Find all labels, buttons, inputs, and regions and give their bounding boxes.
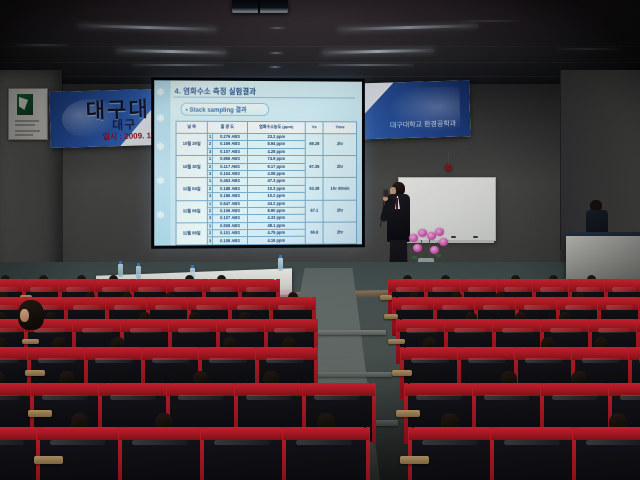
water-bottle [118,264,123,277]
seat-highlight [42,395,88,400]
table-row: 10월 30일10.956 ABS74.9 ppm67.352hr [176,156,357,163]
cell-absorbance: 0.104 ABS [213,170,248,177]
seat-highlight [550,328,582,333]
seat-armrest[interactable] [400,456,429,464]
slide-snowflake-border: ❄ ❄ ❄ ❄ ❄ [154,80,170,245]
cell-date: 10월 30일 [176,156,207,178]
poster-text-line [15,134,33,136]
seat-highlight [416,395,462,400]
seat-highlight [0,440,24,445]
cell-ppm: 8.94 ppm [247,141,305,148]
flower-leaf [435,254,442,257]
seat-highlight [214,440,270,445]
seat-highlight [155,305,182,310]
podium [566,236,640,284]
auditorium-seat[interactable] [122,430,202,480]
table-header-row: 날 짜 흡 광 도 염화수소농도 (ppm) Vs Time [176,121,357,134]
seat-highlight [266,358,305,363]
ceiling-lamp [268,52,284,54]
seat-highlight [132,440,188,445]
snowflake-icon: ❄ [156,177,165,187]
slide-data-table: 날 짜 흡 광 도 염화수소농도 (ppm) Vs Time 10월 29일10… [176,121,358,246]
whiteboard-marker-icon [473,236,478,238]
snowflake-icon: ❄ [156,143,165,153]
seat-highlight [274,328,306,333]
ceiling-lamp [318,64,414,66]
seat-armrest[interactable] [28,410,52,417]
cell-ppm: 47.3 ppm [247,178,305,185]
ceiling-lamp [14,44,70,46]
seat-headrest [201,427,287,440]
seat-highlight [296,440,352,445]
cell-vs: 66.6 [305,222,323,244]
cell-ppm: 4.08 ppm [247,170,305,177]
seat-highlight [178,328,210,333]
seat-highlight [73,305,100,310]
seat-highlight [612,287,636,292]
cell-ppm: 74.9 ppm [247,156,305,163]
seat-armrest[interactable] [392,370,412,376]
seat-armrest[interactable] [25,370,45,376]
ceiling-lamp [268,27,286,29]
flower-bloom [435,228,444,236]
flower-bloom [418,229,427,237]
auditorium-seat[interactable] [494,430,574,480]
flower-bloom [409,234,418,242]
flower-bloom [439,238,448,246]
cell-absorbance: 0.106 ABS [213,207,248,215]
wall-poster [8,88,48,140]
seat-highlight [620,395,640,400]
cell-time: 2hr [324,156,357,178]
slide-title: 4. 염화수소 측정 실험결과 [175,86,257,97]
poster-text-line [15,124,35,126]
cell-absorbance: 0.169 ABS [213,141,248,148]
cell-absorbance: 0.276 ABS [213,133,248,140]
cell-ppm: 4.28 ppm [247,148,305,155]
cell-absorbance: 0.956 ABS [213,156,248,163]
presenter-tie [396,198,398,210]
slide-bullet-pill: • Stack sampling 결과 [181,103,269,116]
seat-headrest [573,427,640,440]
seat-highlight [82,328,114,333]
seat-highlight [196,305,223,310]
cell-time: 2hr [324,200,357,222]
ceiling-lamp [268,66,282,68]
seat-highlight [540,287,564,292]
seat-highlight [422,440,478,445]
auditorium-seat[interactable] [204,430,284,480]
cell-ppm: 23.2 ppm [247,133,305,141]
seat-headrest [0,427,41,440]
cell-time: 1hr 40min [324,178,357,200]
water-bottle [278,258,283,271]
seat-headrest [119,427,205,440]
poster-text-line [15,120,39,122]
seat-highlight [95,358,134,363]
cell-absorbance: 0.547 ABS [213,200,248,208]
cell-ppm: 9.17 ppm [247,163,305,170]
table-row: 10월 29일10.276 ABS23.2 ppm69.282hr [176,133,357,141]
cell-date: 11월 09일 [176,222,207,244]
cell-vs: 67.35 [305,156,323,178]
cell-absorbance: 0.107 ABS [213,148,248,155]
snowflake-icon: ❄ [156,115,165,125]
col-header-time: Time [324,122,357,134]
seat-highlight [454,328,486,333]
seat-highlight [565,305,592,310]
seat-headrest [37,427,123,440]
ceiling-projector [232,0,288,13]
cell-absorbance: 0.186 ABS [213,193,248,201]
ceiling [0,0,640,88]
snowflake-icon: ❄ [156,211,165,221]
wall-seam [560,70,561,250]
seat-highlight [504,287,528,292]
seat-highlight [209,358,248,363]
whiteboard-marker-icon [451,236,456,238]
seat-headrest [409,427,495,440]
slide-title-rule [174,97,356,99]
projection-screen: ❄ ❄ ❄ ❄ ❄ 4. 염화수소 측정 실험결과 • Stack sampli… [151,77,365,249]
snowflake-icon: ❄ [156,88,165,98]
seat-highlight [178,395,224,400]
seat-highlight [606,305,633,310]
seat-highlight [524,305,551,310]
col-header-absorbance: 흡 광 도 [207,121,247,133]
flower-bloom [413,244,422,252]
seat-highlight [210,287,234,292]
seat-highlight [114,305,141,310]
cell-vs: 69.28 [305,134,323,156]
seat-highlight [0,358,19,363]
ceiling-seam [0,62,640,63]
cell-ppm: 4.16 ppm [247,237,305,245]
audience-face [20,309,29,322]
ceiling-vignette [0,0,640,88]
seat-armrest[interactable] [22,339,39,344]
seat-highlight [582,358,621,363]
seat-highlight [411,358,450,363]
auditorium-seat[interactable] [412,430,492,480]
seat-highlight [0,395,20,400]
col-header-vs: Vs [305,122,323,134]
seat-highlight [406,328,438,333]
seat-highlight [152,358,191,363]
seat-highlight [278,305,305,310]
flower-leaf [411,256,418,259]
seat-highlight [586,440,640,445]
seat-highlight [38,358,77,363]
cell-absorbance: 0.108 ABS [213,237,248,245]
seat-highlight [110,395,156,400]
seat-armrest[interactable] [396,410,420,417]
cell-absorbance: 0.463 ABS [213,178,248,185]
cell-absorbance: 0.188 ABS [213,185,248,192]
table-body: 10월 29일10.276 ABS23.2 ppm69.282hr20.169 … [176,133,357,245]
podium-operator [586,200,608,236]
seat-highlight [401,305,428,310]
audience-head-turned [18,300,44,330]
cell-date: 11월 06일 [176,200,207,222]
seat-armrest[interactable] [380,295,392,300]
seat-highlight [525,358,564,363]
ceiling-seam [0,76,640,77]
flower-bloom [430,246,439,254]
cell-date: 10월 29일 [176,133,207,155]
col-header-date: 날 짜 [176,121,207,133]
slide-bullet-text: • Stack sampling 결과 [186,105,247,114]
seat-highlight [130,328,162,333]
poster-graphic-icon [17,94,33,115]
ceiling-seam [0,46,640,47]
cell-vs: 53.38 [305,178,323,200]
auditorium-seat[interactable] [576,430,640,480]
cell-vs: 67.1 [305,200,323,222]
seat-highlight [504,440,560,445]
seat-highlight [502,328,534,333]
ceiling-lamp [132,64,224,66]
poster-text-line [15,130,40,132]
ceiling-lamp [460,20,520,22]
banner-org: 대구대학교 환경공학과 [390,119,457,131]
auditorium-seat[interactable] [286,430,366,480]
seat-headrest [629,347,640,360]
seat-highlight [468,358,507,363]
seat-highlight [138,287,162,292]
seat-highlight [237,305,264,310]
seat-highlight [0,305,18,310]
seat-highlight [174,287,198,292]
cell-absorbance: 0.117 ABS [213,163,248,170]
seat-highlight [30,287,54,292]
cell-time: 2hr [324,222,357,244]
seat-highlight [226,328,258,333]
seat-highlight [442,305,469,310]
seat-highlight [50,440,106,445]
microphone-icon [384,190,388,197]
ceiling-speaker-icon [445,164,452,171]
seat-armrest[interactable] [388,339,405,344]
seat-highlight [484,395,530,400]
seat-highlight [598,328,630,333]
water-bottle [136,266,141,279]
auditorium-seat[interactable] [40,430,120,480]
seat-headrest [283,427,369,440]
seat-highlight [552,395,598,400]
seat-highlight [314,395,360,400]
cell-ppm: 10.3 ppm [247,185,305,193]
presentation-slide: ❄ ❄ ❄ ❄ ❄ 4. 염화수소 측정 실험결과 • Stack sampli… [154,80,362,245]
seat-headrest [491,427,577,440]
cell-time: 2hr [324,134,357,156]
auditorium-photo: 대구대 대구 일시 : 2009. 11. 20 대구대학교 환경공학과 발표회… [0,0,640,480]
cell-date: 11월 04일 [176,178,207,200]
ceiling-lamp [556,48,622,50]
seat-highlight [0,328,18,333]
seat-highlight [246,395,292,400]
seat-highlight [483,305,510,310]
col-header-concentration: 염화수소농도 (ppm) [247,121,305,133]
auditorium-seat[interactable] [0,430,38,480]
seat-highlight [468,287,492,292]
seat-armrest[interactable] [34,456,63,464]
